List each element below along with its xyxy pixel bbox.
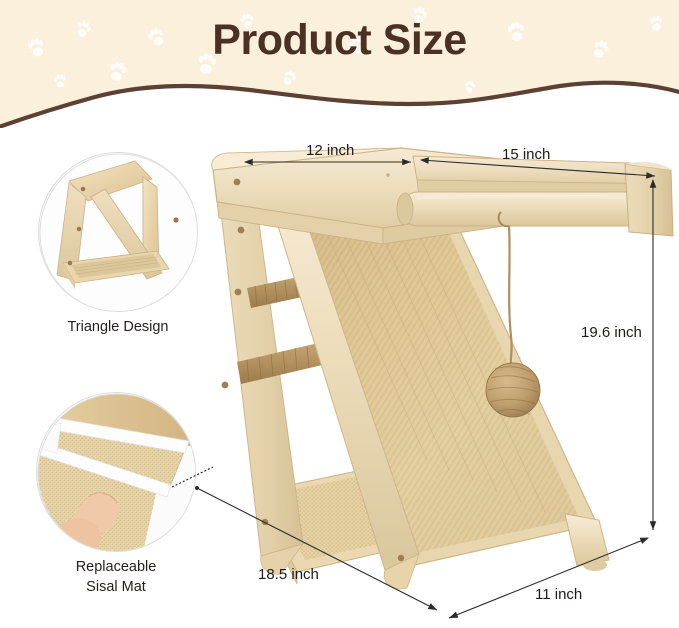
dimension-label-18-5-inch: 18.5 inch: [258, 566, 319, 583]
callout-sisal-mat-label: Replaceable Sisal Mat: [36, 558, 196, 597]
cat-scratcher-illustration: [205, 140, 679, 620]
rear-foot: [583, 559, 607, 571]
perch-bar: [397, 156, 673, 236]
sisal-mat-hand-icon: [37, 393, 196, 552]
callout-triangle-design: Triangle Design: [38, 152, 198, 312]
product-size-infographic: Product Size: [0, 0, 679, 628]
callout-sisal-mat-photo: [36, 392, 196, 552]
callout-triangle-design-label: Triangle Design: [38, 318, 198, 338]
dimension-label-11-inch: 11 inch: [535, 586, 582, 603]
page-title: Product Size: [0, 16, 679, 65]
dimension-label-12-inch: 12 inch: [306, 142, 354, 159]
dimension-label-19-6-inch: 19.6 inch: [581, 324, 642, 341]
triangle-frame-icon: [39, 153, 198, 312]
dimension-label-15-inch: 15 inch: [502, 146, 550, 163]
callout-triangle-design-photo: [38, 152, 198, 312]
header-band: Product Size: [0, 0, 679, 128]
product-photo: [205, 140, 679, 620]
callout-replaceable-sisal-mat: Replaceable Sisal Mat: [36, 392, 196, 552]
